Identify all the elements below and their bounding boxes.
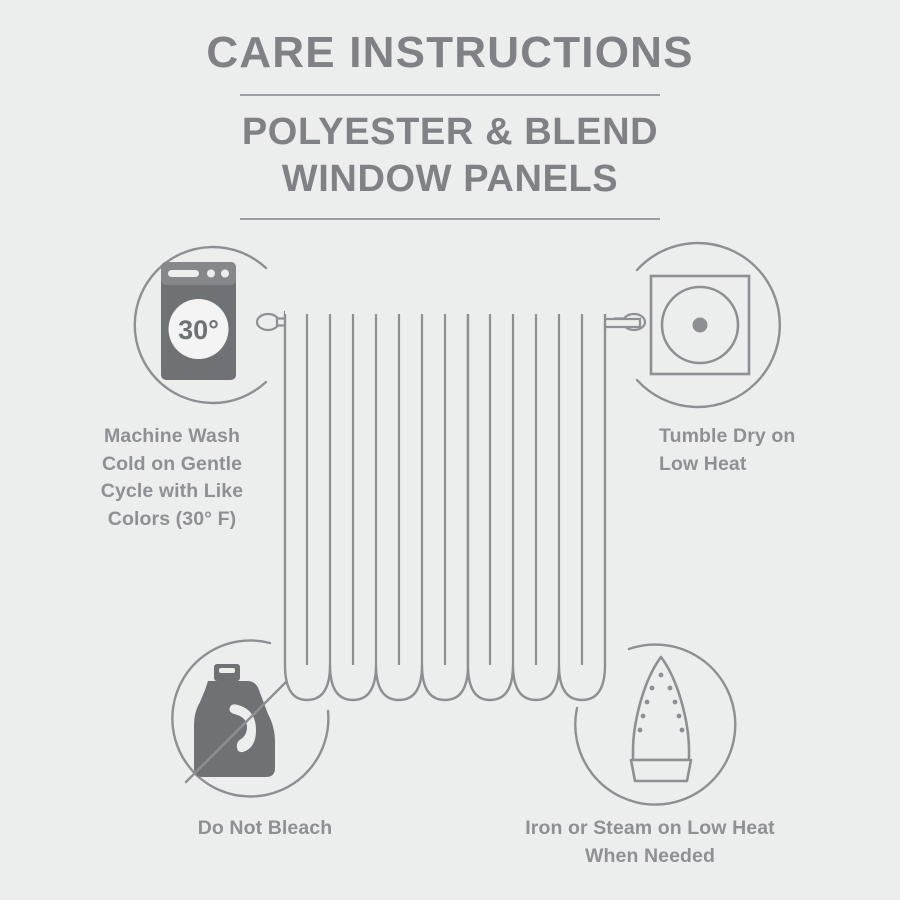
left-panel-pleats bbox=[307, 312, 445, 665]
washer-knob-right bbox=[221, 270, 229, 278]
right-panel-outline bbox=[468, 312, 605, 700]
iron-steam-holes bbox=[638, 673, 685, 733]
symbol-do-not-bleach bbox=[172, 640, 328, 796]
iron-body bbox=[636, 662, 686, 761]
curtain-rod bbox=[257, 314, 645, 330]
caption-machine-wash: Machine Wash Cold on Gentle Cycle with L… bbox=[48, 423, 296, 534]
right-curtain-panel bbox=[468, 312, 605, 700]
tumble-dry-icon bbox=[651, 276, 749, 374]
right-panel-top-cover bbox=[468, 308, 607, 314]
header: CARE INSTRUCTIONS POLYESTER & BLEND WIND… bbox=[0, 0, 900, 220]
dryer-circle bbox=[662, 287, 738, 363]
header-divider-bottom bbox=[240, 218, 660, 220]
left-finial-cap bbox=[257, 314, 279, 330]
no-bleach-ring bbox=[172, 640, 328, 796]
no-bleach-icon bbox=[186, 664, 292, 782]
iron-ring bbox=[575, 645, 735, 805]
washer-control-panel bbox=[161, 262, 236, 285]
left-finial-neck bbox=[277, 319, 287, 326]
caption-do-not-bleach: Do Not Bleach bbox=[140, 815, 390, 843]
subtitle-line-2: WINDOW PANELS bbox=[0, 155, 900, 202]
right-panel-pleats bbox=[490, 312, 582, 665]
washer-knob-left bbox=[207, 270, 215, 278]
left-panel-outline bbox=[285, 312, 468, 700]
iron-base-plate bbox=[631, 760, 691, 781]
prohibition-slash bbox=[186, 676, 292, 782]
bleach-bottle-cap bbox=[214, 664, 240, 681]
machine-wash-ring bbox=[135, 247, 266, 403]
caption-tumble-dry: Tumble Dry on Low Heat bbox=[659, 423, 899, 478]
tumble-dry-ring bbox=[637, 243, 780, 407]
rod-bar bbox=[465, 319, 640, 327]
dryer-square bbox=[651, 276, 749, 374]
washing-machine-icon: 30° bbox=[161, 262, 236, 380]
iron-soleplate bbox=[633, 657, 689, 760]
left-finial bbox=[257, 314, 287, 330]
right-finial-cap bbox=[623, 314, 645, 330]
page-title: CARE INSTRUCTIONS bbox=[0, 0, 900, 76]
subtitle-line-1: POLYESTER & BLEND bbox=[0, 96, 900, 155]
right-finial bbox=[615, 314, 645, 330]
bleach-cap-highlight bbox=[219, 668, 235, 673]
washer-panel-slot bbox=[168, 270, 199, 277]
washer-body bbox=[161, 262, 236, 380]
care-instructions-card: CARE INSTRUCTIONS POLYESTER & BLEND WIND… bbox=[0, 0, 900, 900]
right-finial-neck bbox=[615, 319, 625, 326]
symbol-iron bbox=[575, 645, 735, 805]
bleach-bottle-body bbox=[194, 681, 275, 777]
wash-temperature-label: 30° bbox=[178, 315, 219, 345]
dryer-low-heat-dot bbox=[693, 318, 708, 333]
caption-iron: Iron or Steam on Low Heat When Needed bbox=[470, 815, 830, 870]
washer-drum bbox=[169, 299, 229, 359]
left-panel-top-cover bbox=[285, 308, 468, 314]
symbol-tumble-dry bbox=[637, 243, 780, 407]
iron-icon bbox=[631, 657, 691, 781]
symbol-machine-wash: 30° bbox=[135, 247, 266, 403]
left-curtain-panel bbox=[285, 312, 468, 700]
